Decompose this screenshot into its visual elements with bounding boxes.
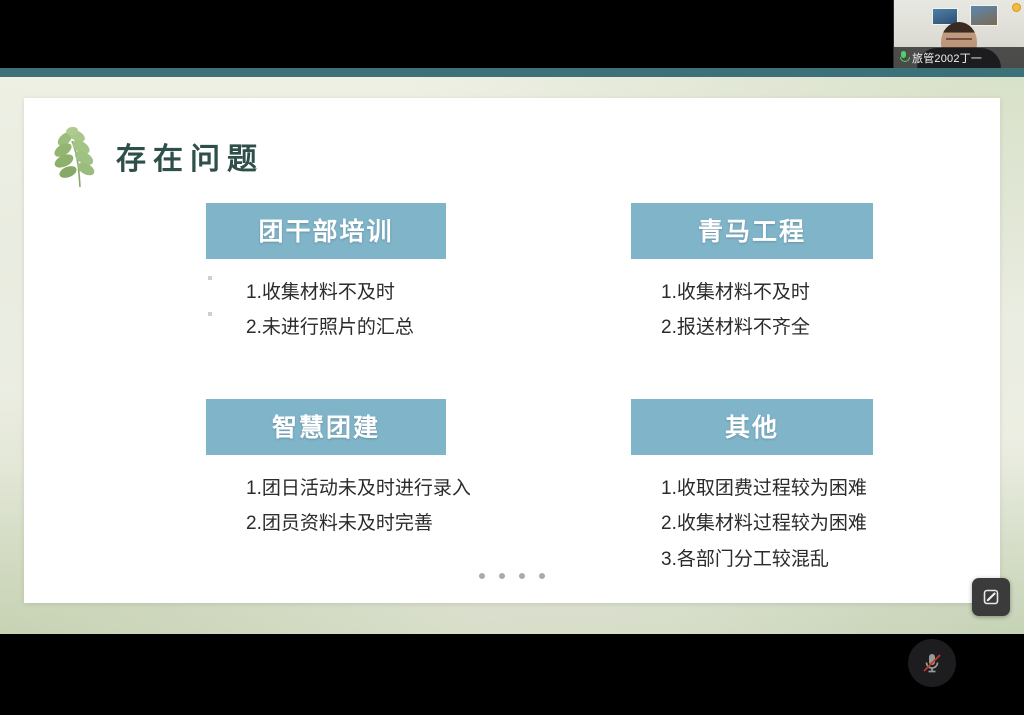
content-block-qingmagongcheng: 青马工程 1.收集材料不及时 2.报送材料不齐全 <box>631 203 961 345</box>
microphone-muted-icon <box>919 650 945 676</box>
list-item: 1.收集材料不及时 <box>246 275 536 310</box>
block-list: 1.团日活动未及时进行录入 2.团员资料未及时完善 <box>206 471 536 541</box>
content-block-qita: 其他 1.收取团费过程较为困难 2.收集材料过程较为困难 3.各部门分工较混乱 <box>631 399 961 576</box>
page-title: 存在问题 <box>116 134 264 178</box>
block-list: 1.收集材料不及时 2.报送材料不齐全 <box>631 275 961 345</box>
participant-name-bar: 旅管2002丁一 <box>894 47 1024 68</box>
slide-pager[interactable] <box>24 573 1000 579</box>
pager-dot[interactable] <box>499 573 505 579</box>
block-heading: 智慧团建 <box>206 399 446 455</box>
list-item: 3.各部门分工较混乱 <box>661 542 961 577</box>
list-item: 2.报送材料不齐全 <box>661 310 961 345</box>
content-block-tuanganbu: 团干部培训 1.收集材料不及时 2.未进行照片的汇总 <box>206 203 536 345</box>
shared-screen-region: 存在问题 团干部培训 1.收集材料不及时 2.未进行照片的汇总 智慧团建 1.团 <box>0 68 1024 634</box>
content-column-right: 青马工程 1.收集材料不及时 2.报送材料不齐全 其他 1.收取团费过程较为困难… <box>631 203 961 631</box>
content-block-zhihuituanjian: 智慧团建 1.团日活动未及时进行录入 2.团员资料未及时完善 <box>206 399 536 541</box>
content-column-left: 团干部培训 1.收集材料不及时 2.未进行照片的汇总 智慧团建 1.团日活动未及… <box>206 203 536 596</box>
pager-dot[interactable] <box>519 573 525 579</box>
block-heading: 其他 <box>631 399 873 455</box>
status-badge-icon <box>1012 3 1021 12</box>
slide-card: 存在问题 团干部培训 1.收集材料不及时 2.未进行照片的汇总 智慧团建 1.团 <box>24 98 1000 603</box>
list-item: 2.团员资料未及时完善 <box>246 506 536 541</box>
pager-dot[interactable] <box>479 573 485 579</box>
microphone-icon <box>899 51 908 64</box>
selfview-video-tile[interactable]: 旅管2002丁一 <box>893 0 1024 68</box>
slide-title-row: 存在问题 <box>50 123 264 189</box>
block-heading: 青马工程 <box>631 203 873 259</box>
meeting-stage: 存在问题 团干部培训 1.收集材料不及时 2.未进行照片的汇总 智慧团建 1.团 <box>0 0 1024 715</box>
list-item: 1.团日活动未及时进行录入 <box>246 471 536 506</box>
wall-picture-frame <box>970 5 998 26</box>
pager-dot[interactable] <box>539 573 545 579</box>
list-item: 2.收集材料过程较为困难 <box>661 506 961 541</box>
block-list: 1.收集材料不及时 2.未进行照片的汇总 <box>206 275 536 345</box>
annotate-button[interactable] <box>972 578 1010 616</box>
list-item: 1.收集材料不及时 <box>661 275 961 310</box>
leaf-branch-icon <box>50 123 102 189</box>
block-list: 1.收取团费过程较为困难 2.收集材料过程较为困难 3.各部门分工较混乱 <box>631 471 961 576</box>
participant-glasses <box>946 38 972 46</box>
list-item: 1.收取团费过程较为困难 <box>661 471 961 506</box>
list-item: 2.未进行照片的汇总 <box>246 310 536 345</box>
block-heading: 团干部培训 <box>206 203 446 259</box>
annotate-icon <box>981 587 1001 607</box>
participant-name: 旅管2002丁一 <box>912 50 982 66</box>
mute-toggle-button[interactable] <box>908 639 956 687</box>
